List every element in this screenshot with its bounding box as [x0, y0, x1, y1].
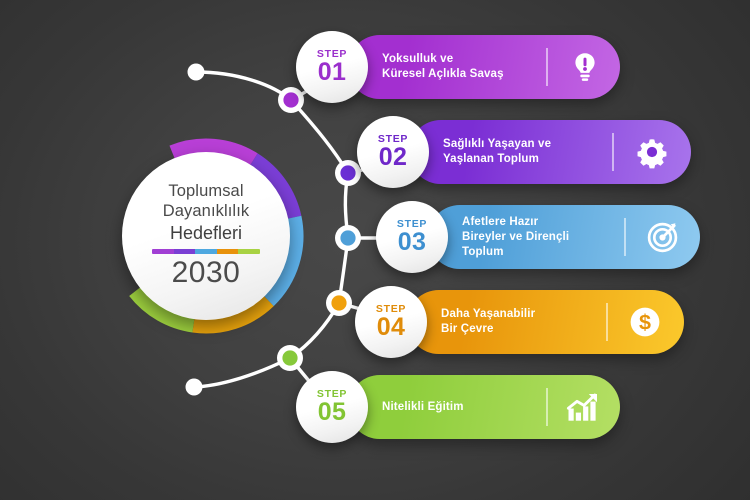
- step-separator-2: [612, 133, 614, 171]
- step-pill-5[interactable]: Nitelikli Eğitim: [348, 375, 620, 439]
- step-number-5: 05: [318, 399, 346, 426]
- emblem-divider-bar: [152, 249, 260, 254]
- step-separator-3: [624, 218, 626, 256]
- step-badge-2[interactable]: STEP 02: [357, 116, 429, 188]
- step-badge-1[interactable]: STEP 01: [296, 31, 368, 103]
- emblem-disc: Toplumsal Dayanıklılık Hedefleri 2030: [122, 152, 290, 320]
- step-separator-4: [606, 303, 608, 341]
- step-title-1: Yoksulluk ve Küresel Açlıkla Savaş: [382, 52, 504, 82]
- target-icon: [644, 218, 682, 256]
- step-badge-4[interactable]: STEP 04: [355, 286, 427, 358]
- step-separator-5: [546, 388, 548, 426]
- lightbulb-icon: [567, 49, 603, 85]
- step-number-2: 02: [379, 144, 407, 171]
- emblem-line2: Dayanıklılık: [163, 202, 249, 222]
- junction-node-5: [277, 345, 303, 371]
- step-title-3: Afetlere Hazır Bireyler ve Dirençli Topl…: [462, 215, 569, 260]
- emblem-line3: Hedefleri: [170, 222, 242, 244]
- step-pill-2[interactable]: Sağlıklı Yaşayan ve Yaşlanan Toplum: [409, 120, 691, 184]
- step-badge-5[interactable]: STEP 05: [296, 371, 368, 443]
- step-pill-4[interactable]: Daha Yaşanabilir Bir Çevre $: [407, 290, 684, 354]
- step-badge-3[interactable]: STEP 03: [376, 201, 448, 273]
- center-emblem: Toplumsal Dayanıklılık Hedefleri 2030: [108, 138, 304, 334]
- step-pill-3[interactable]: Afetlere Hazır Bireyler ve Dirençli Topl…: [428, 205, 700, 269]
- step-number-4: 04: [377, 314, 405, 341]
- step-separator-1: [546, 48, 548, 86]
- junction-node-3: [335, 225, 361, 251]
- step-number-1: 01: [318, 59, 346, 86]
- junction-node-4: [326, 290, 352, 316]
- emblem-line1: Toplumsal: [168, 182, 243, 202]
- step-title-2: Sağlıklı Yaşayan ve Yaşlanan Toplum: [443, 137, 551, 167]
- step-number-3: 03: [398, 229, 426, 256]
- junction-node-1: [278, 87, 304, 113]
- infographic-canvas: Toplumsal Dayanıklılık Hedefleri 2030 Yo…: [0, 0, 750, 500]
- gear-icon: [634, 134, 670, 170]
- step-title-5: Nitelikli Eğitim: [382, 400, 464, 415]
- step-title-4: Daha Yaşanabilir Bir Çevre: [441, 307, 535, 337]
- emblem-year: 2030: [172, 256, 241, 290]
- dollar-icon: $: [627, 304, 663, 340]
- endpoint-dot-bottom: [186, 379, 203, 396]
- junction-node-2: [335, 160, 361, 186]
- growth-chart-icon: [564, 389, 602, 425]
- endpoint-dot-top: [188, 64, 205, 81]
- svg-text:$: $: [639, 311, 651, 335]
- step-pill-1[interactable]: Yoksulluk ve Küresel Açlıkla Savaş: [348, 35, 620, 99]
